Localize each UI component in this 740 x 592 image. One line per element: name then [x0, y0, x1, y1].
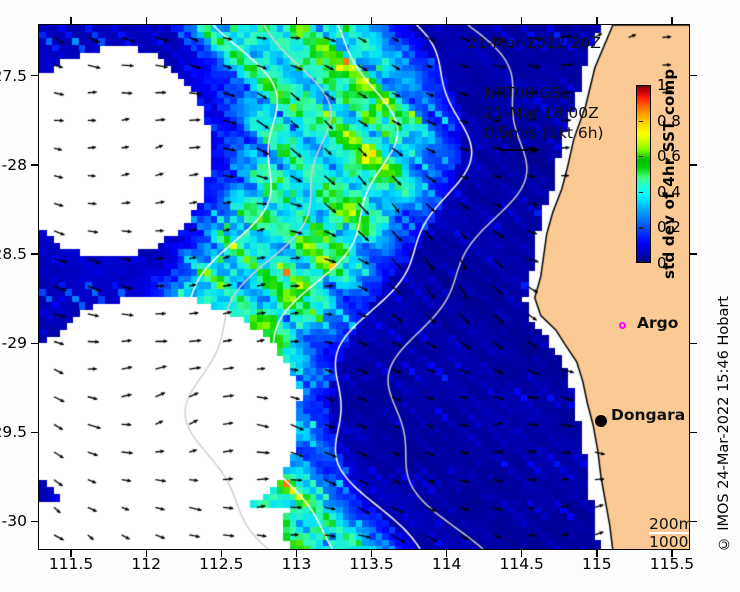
y-tick-mark-right — [690, 75, 697, 76]
copyright-notice: © IMOS 24-Mar-2022 15:46 Hobart — [716, 296, 732, 551]
x-tick-mark — [371, 17, 372, 24]
colorbar-title: std dev of 4hr SST comp — [660, 85, 678, 263]
argo-label: Argo — [637, 314, 678, 332]
y-tick-label: -27.5 — [0, 67, 27, 85]
product-line-2: 21-Mar 18:00Z — [484, 104, 599, 122]
y-tick-mark-right — [690, 521, 697, 522]
map-plot-area[interactable]: 21-Mar-2022 20Z NRT00 GSL 21-Mar 18:00Z … — [38, 24, 690, 550]
x-tick-mark — [146, 17, 147, 24]
x-tick-mark — [296, 17, 297, 24]
y-tick-label: -30 — [2, 512, 27, 530]
dongara-label: Dongara — [611, 406, 685, 424]
x-tick-label: 114.5 — [500, 555, 544, 573]
timestamp-overlay: 21-Mar-2022 20Z — [467, 34, 601, 52]
x-tick-label: 111.5 — [49, 555, 93, 573]
reference-velocity-arrow — [499, 143, 541, 157]
depth-label-1000m: 1000m — [649, 533, 690, 550]
y-tick-mark — [31, 164, 38, 165]
x-tick-mark — [671, 17, 672, 24]
colorbar-tick — [639, 227, 643, 228]
argo-marker[interactable] — [619, 322, 626, 329]
x-tick-label: 112 — [131, 555, 161, 573]
y-tick-mark — [31, 343, 38, 344]
y-tick-label: -29.5 — [0, 423, 27, 441]
x-tick-mark — [70, 17, 71, 24]
y-tick-label: -29 — [2, 334, 27, 352]
colorbar-tick — [639, 192, 643, 193]
product-line-1: NRT00 GSL — [484, 84, 570, 102]
x-tick-mark — [221, 17, 222, 24]
colorbar-tick — [639, 261, 643, 262]
x-tick-mark — [521, 17, 522, 24]
x-tick-label: 113 — [282, 555, 312, 573]
y-tick-mark-right — [690, 343, 697, 344]
dongara-marker[interactable] — [595, 415, 607, 427]
colorbar-tick — [639, 86, 643, 87]
y-tick-mark-right — [690, 432, 697, 433]
product-line-3: 0.5m/s (1kt 6h) — [484, 124, 604, 142]
x-tick-label: 115.5 — [650, 555, 694, 573]
x-tick-mark — [446, 17, 447, 24]
y-tick-mark — [31, 432, 38, 433]
x-tick-mark — [596, 17, 597, 24]
y-tick-mark-right — [690, 164, 697, 165]
y-tick-mark — [31, 521, 38, 522]
x-tick-label: 112.5 — [199, 555, 243, 573]
depth-legend-line-200m — [649, 532, 690, 534]
figure-root: 21-Mar-2022 20Z NRT00 GSL 21-Mar 18:00Z … — [0, 0, 740, 592]
x-tick-label: 115 — [582, 555, 612, 573]
y-tick-mark — [31, 253, 38, 254]
y-tick-mark-right — [690, 253, 697, 254]
x-tick-label: 114 — [432, 555, 462, 573]
depth-label-200m: 200m — [649, 515, 690, 533]
y-tick-mark — [31, 75, 38, 76]
colorbar-tick — [639, 121, 643, 122]
colorbar-gradient — [636, 85, 651, 263]
y-tick-label: -28.5 — [0, 245, 27, 263]
x-tick-label: 113.5 — [349, 555, 393, 573]
y-tick-label: -28 — [2, 156, 27, 174]
colorbar[interactable]: 10.80.60.40.20 — [636, 85, 651, 263]
colorbar-tick — [639, 156, 643, 157]
